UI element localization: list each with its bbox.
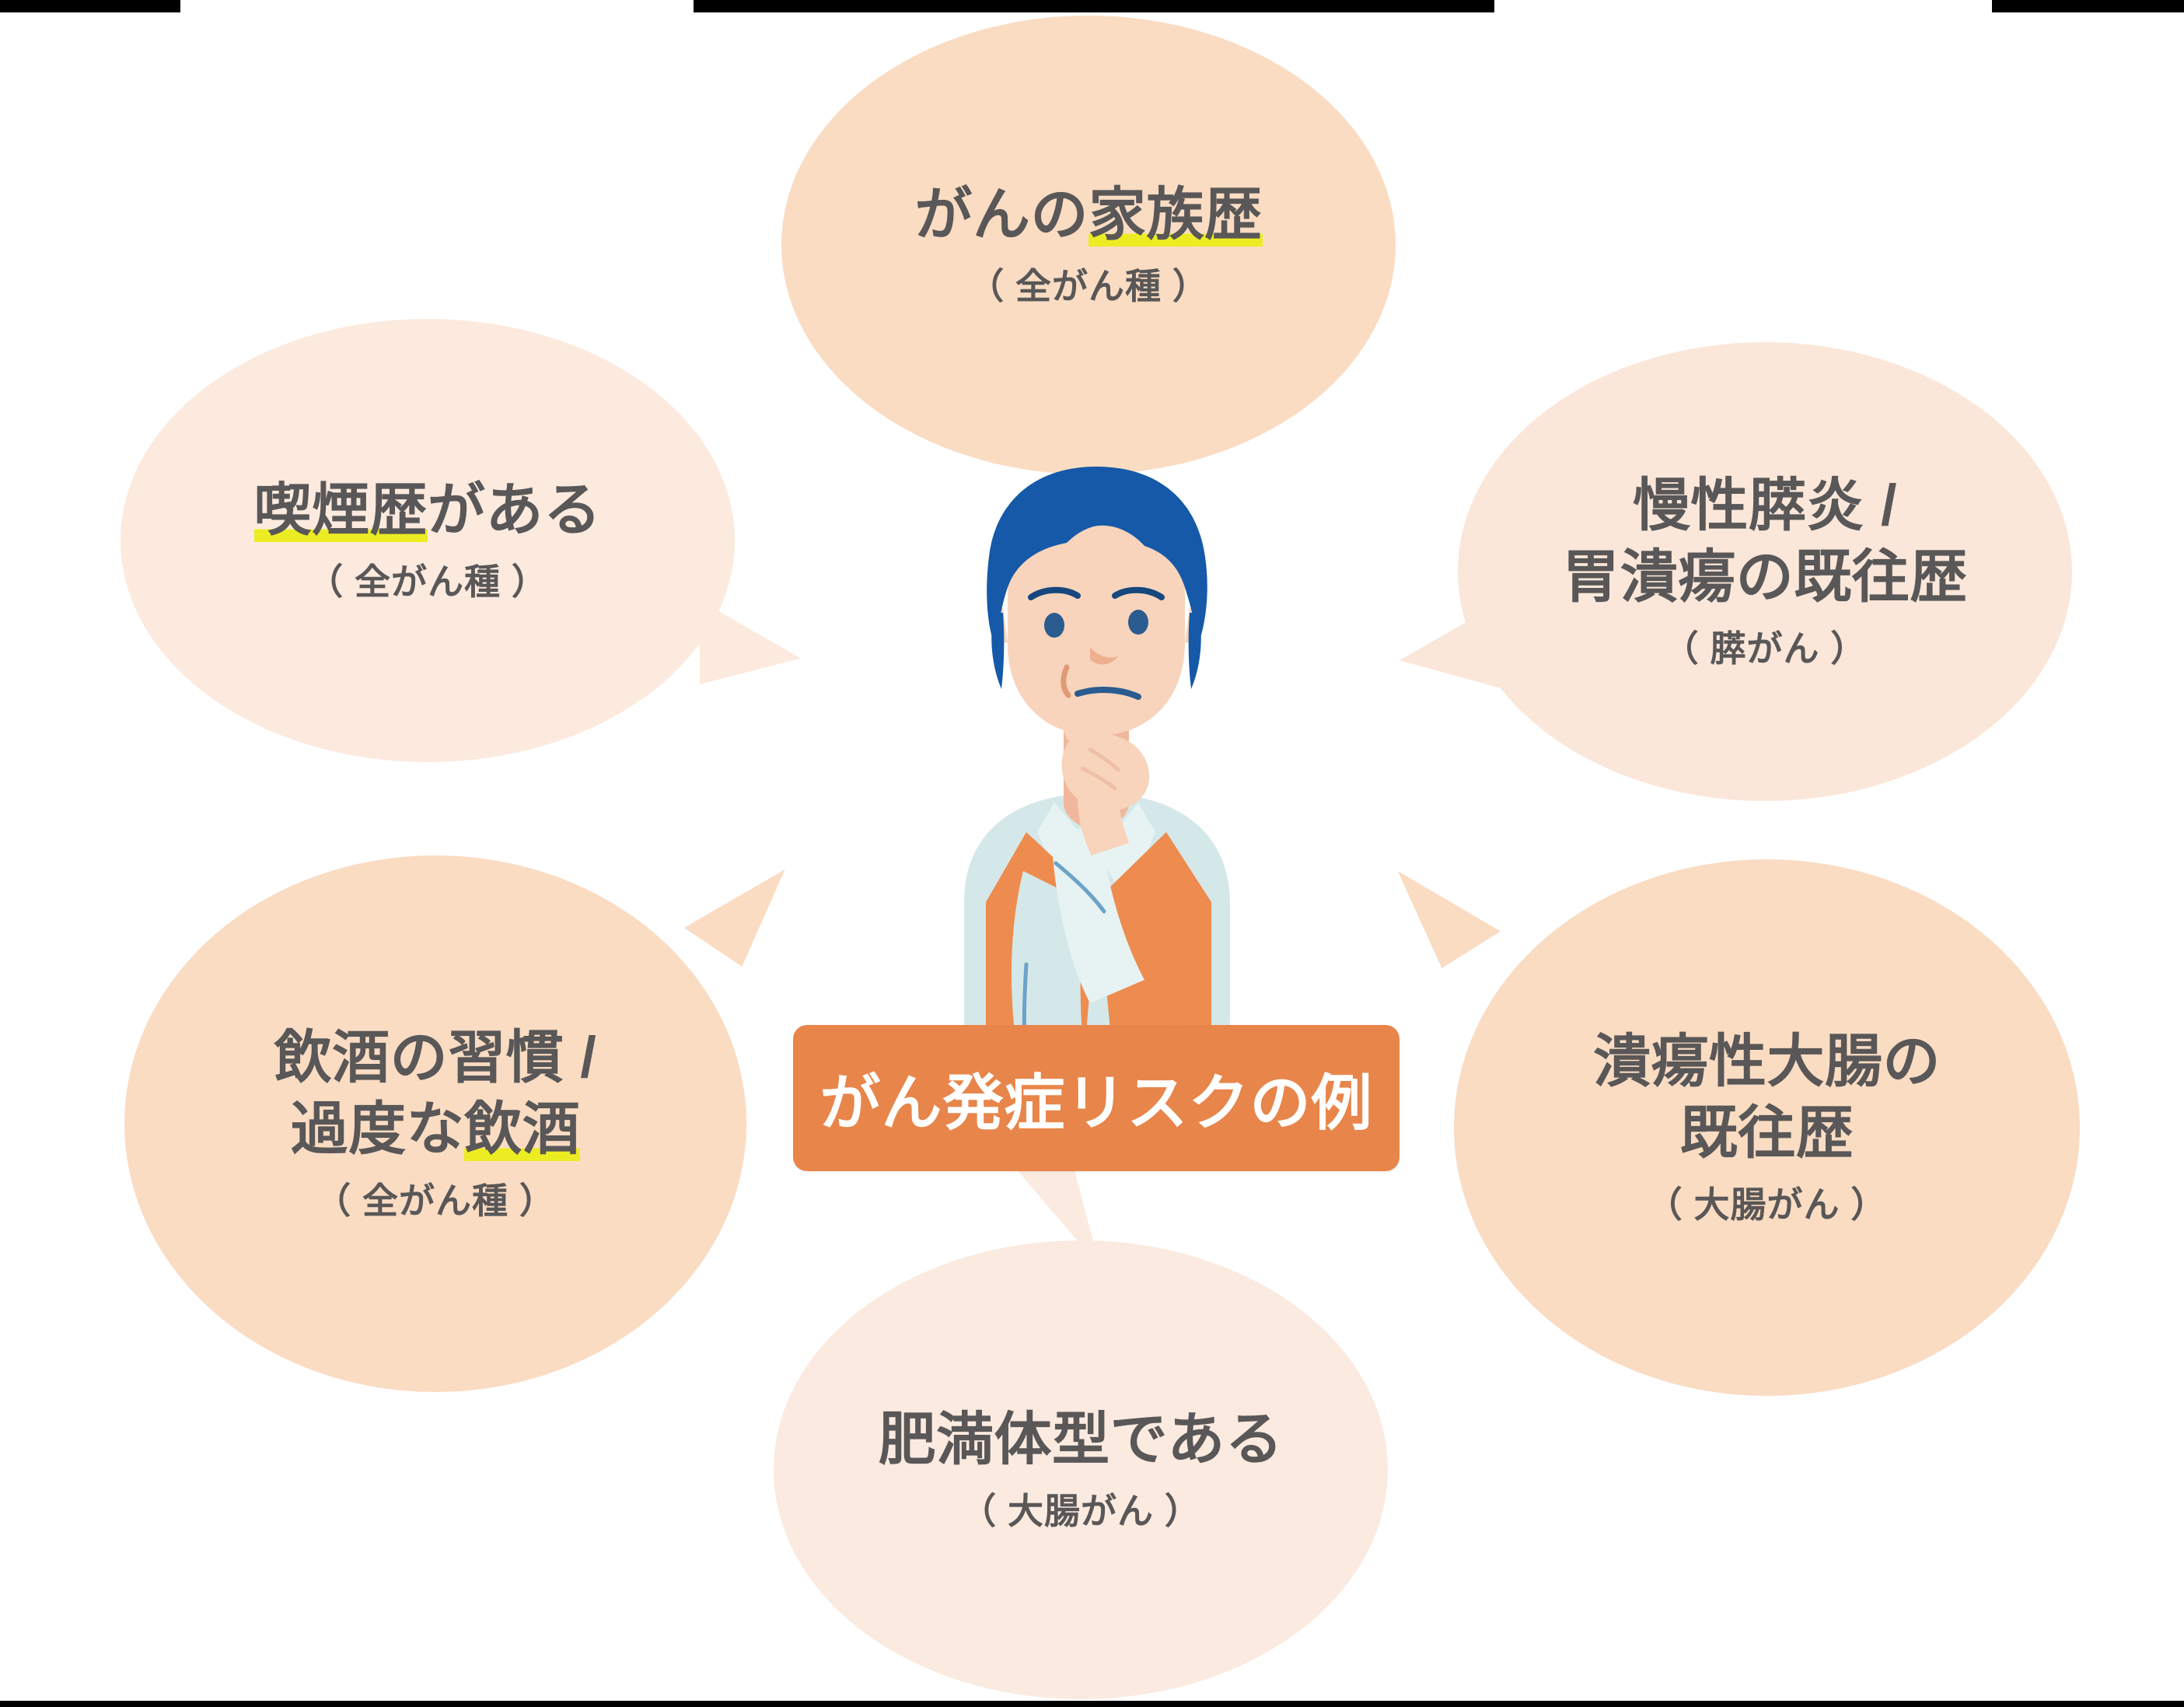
bubble-sub-ulcerative-colitis: （ 大腸がん ）	[1485, 1180, 2049, 1230]
text-alcohol-highlight: 飲酒	[464, 1097, 580, 1161]
bubble-text-pancreatitis: 慢性膵炎 / 胃潰瘍の既往歴 （ 膵がん ）	[1458, 470, 2072, 673]
bubble-line-pancreas-1: 慢性膵炎 /	[1489, 470, 2041, 541]
bubble-line-colitis-1: 潰瘍性大腸の	[1485, 1026, 2049, 1097]
bubble-ulcerative-colitis[interactable]: 潰瘍性大腸の 既往歴 （ 大腸がん ）	[1454, 859, 2080, 1396]
bubble-sub-obesity: （ 大腸がん ）	[805, 1486, 1357, 1536]
bubble-alcohol-habit[interactable]: 飲酒の習慣 / 過度な飲酒 （ 全がん種 ）	[124, 855, 746, 1392]
bubble-family-history[interactable]: がんの家族歴 （ 全がん種 ）	[781, 16, 1396, 474]
bubble-line-alcohol-1: 飲酒の習慣 /	[156, 1022, 715, 1093]
bubble-pancreatitis-ulcer[interactable]: 慢性膵炎 / 胃潰瘍の既往歴 （ 膵がん ）	[1458, 342, 2072, 801]
bubble-sub-pancreatitis: （ 膵がん ）	[1489, 624, 2041, 673]
bubble-text-family-history: がんの家族歴 （ 全がん種 ）	[781, 179, 1396, 311]
bottom-chrome-band	[0, 1701, 2184, 1707]
center-label-cancer-risk[interactable]: がん発症リスクの例	[793, 1025, 1400, 1171]
text-family-plain: がんの	[915, 182, 1089, 247]
thinking-man-illustration	[871, 467, 1322, 1112]
bubble-text-smoking-history: 喫煙歴がある （ 全がん種 ）	[121, 474, 735, 607]
text-family-highlight: 家族歴	[1089, 182, 1263, 247]
text-smoking-plain: がある	[428, 477, 602, 542]
text-alcohol-plain: 過度な	[291, 1097, 465, 1161]
infographic-canvas: がんの家族歴 （ 全がん種 ） 喫煙歴がある （ 全がん種 ） 飲酒の習慣 / …	[0, 0, 2184, 1707]
top-chrome-gap-left	[180, 0, 694, 12]
center-label-text: がん発症リスクの例	[819, 1055, 1372, 1142]
bubble-text-alcohol-habit: 飲酒の習慣 / 過度な飲酒 （ 全がん種 ）	[124, 1022, 746, 1226]
bubble-sub-smoking-history: （ 全がん種 ）	[152, 557, 704, 607]
bubble-line-family-history-main: がんの家族歴	[812, 179, 1365, 250]
bubble-sub-alcohol-habit: （ 全がん種 ）	[156, 1176, 715, 1226]
bubble-obesity[interactable]: 肥満体型である （ 大腸がん ）	[774, 1240, 1388, 1699]
text-smoking-highlight: 喫煙歴	[254, 477, 428, 542]
bubble-text-obesity: 肥満体型である （ 大腸がん ）	[774, 1404, 1388, 1536]
top-chrome-gap-right	[1494, 0, 1992, 12]
bubble-line-smoking-main: 喫煙歴がある	[152, 474, 704, 546]
bubble-text-ulcerative-colitis: 潰瘍性大腸の 既往歴 （ 大腸がん ）	[1454, 1026, 2080, 1230]
bubble-line-obesity-1: 肥満体型である	[805, 1404, 1357, 1475]
bubble-smoking-history[interactable]: 喫煙歴がある （ 全がん種 ）	[121, 319, 735, 762]
bubble-line-alcohol-2: 過度な飲酒	[156, 1093, 715, 1165]
bubble-line-colitis-2: 既往歴	[1485, 1097, 2049, 1169]
bubble-line-pancreas-2: 胃潰瘍の既往歴	[1489, 541, 2041, 613]
bubble-sub-family-history: （ 全がん種 ）	[812, 261, 1365, 311]
